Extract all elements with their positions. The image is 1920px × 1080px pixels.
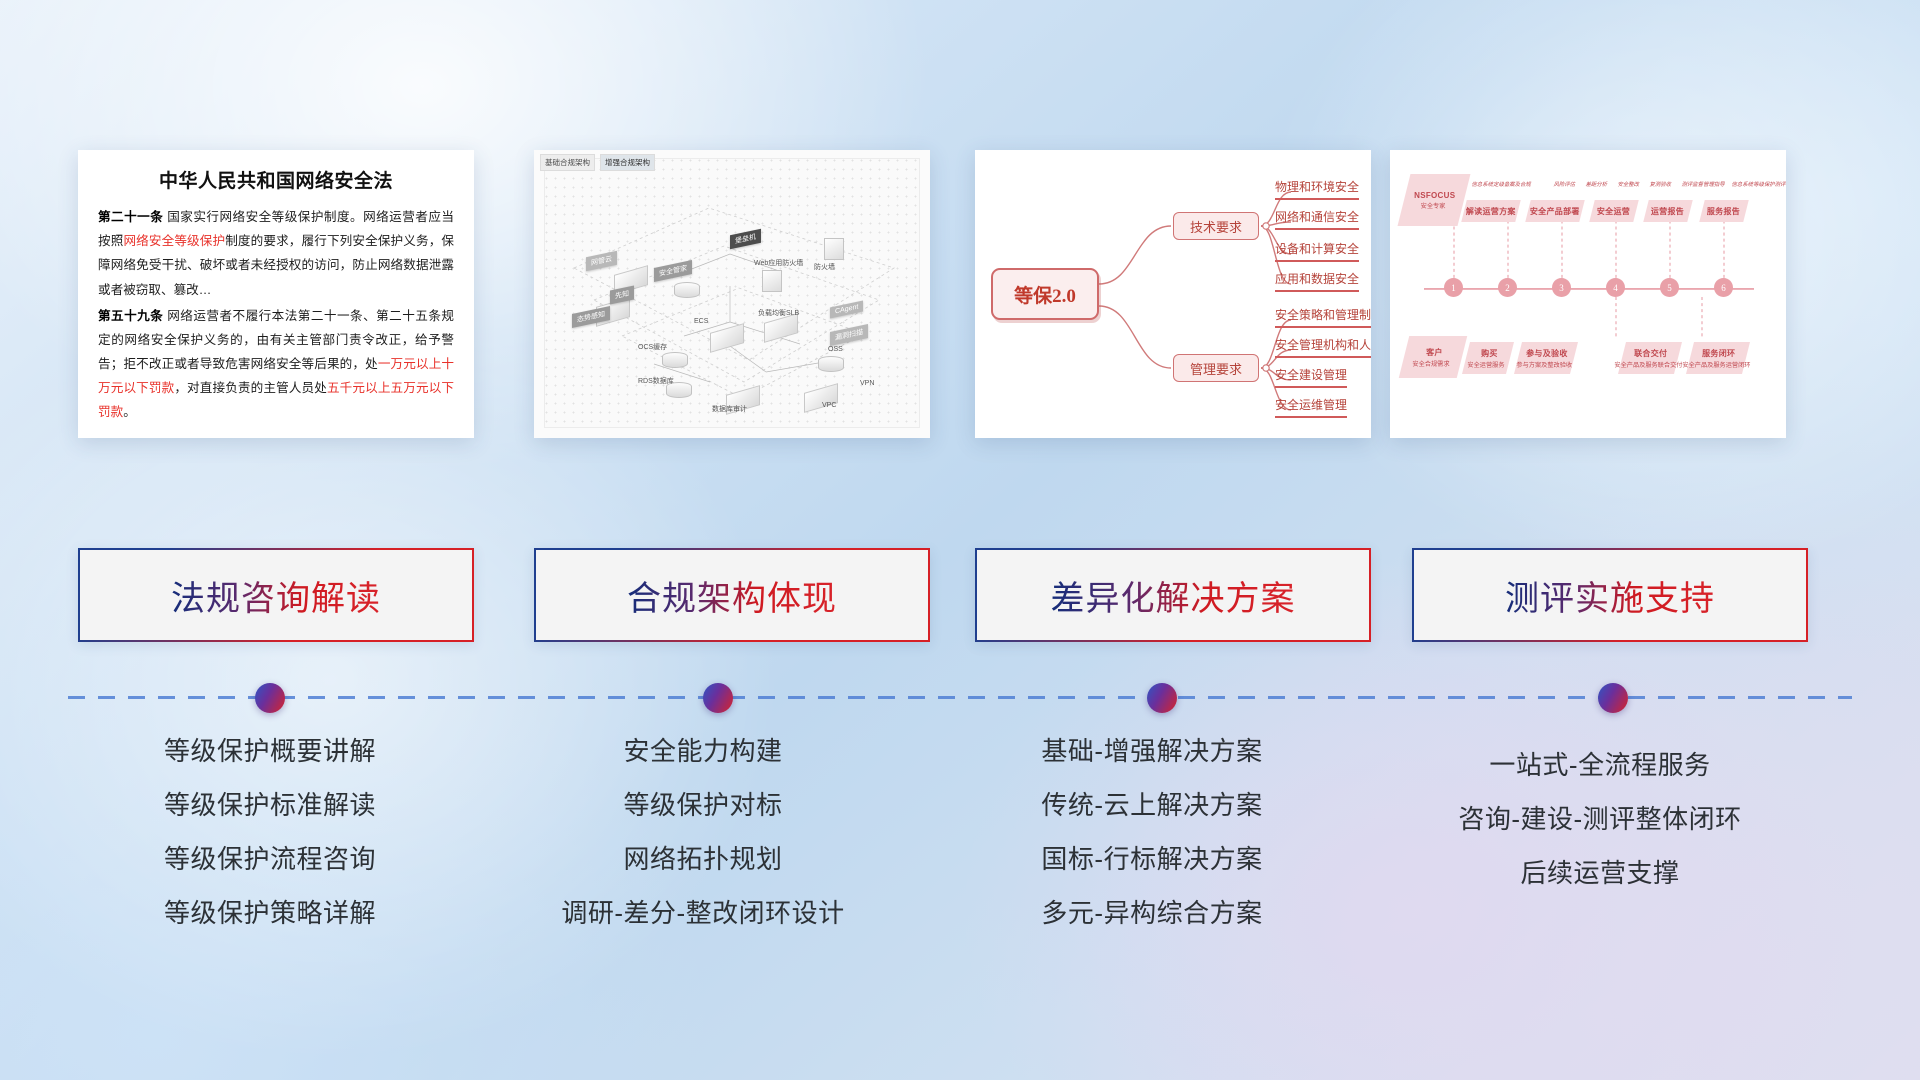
- section-header-solution[interactable]: 差异化解决方案: [975, 548, 1371, 642]
- section-title-1: 法规咨询解读: [171, 571, 381, 620]
- section-item-lists: 等级保护概要讲解 等级保护标准解读 等级保护流程咨询 等级保护策略详解 安全能力…: [0, 738, 1920, 968]
- customer-sub: 安全合规需求: [1413, 359, 1450, 368]
- list-item: 国标-行标解决方案: [937, 846, 1367, 872]
- item-list-architecture: 安全能力构建 等级保护对标 网络拓扑规划 调研-差分-整改闭环设计: [488, 738, 918, 954]
- section-headers-row: 法规咨询解读 合规架构体现 差异化解决方案 测评实施支持: [0, 548, 1920, 642]
- list-item: 等级保护流程咨询: [55, 846, 485, 872]
- article-59-label: 第五十九条: [98, 309, 163, 323]
- list-item: 后续运营支撑: [1385, 860, 1815, 886]
- svc-top-label-1: 信息系统定级备案及合规: [1471, 180, 1532, 188]
- timeline-dot-1[interactable]: [255, 683, 285, 713]
- svc-top-label-2: 风险评估: [1553, 180, 1577, 188]
- mindmap-branch-management: 管理要求: [1173, 354, 1259, 382]
- law-card-title: 中华人民共和国网络安全法: [98, 166, 454, 193]
- list-item: 基础-增强解决方案: [937, 738, 1367, 764]
- section-title-3: 差异化解决方案: [1051, 571, 1296, 620]
- architecture-canvas: 基础合规架构 增强合规架构: [534, 150, 930, 438]
- section-header-regulation[interactable]: 法规咨询解读: [78, 548, 474, 642]
- mindmap-leaf-org-personnel: 安全管理机构和人员: [1275, 336, 1371, 358]
- slide-stage: 中华人民共和国网络安全法 第二十一条 国家实行网络安全等级保护制度。网络运营者应…: [0, 0, 1920, 1080]
- timeline-dot-4[interactable]: [1598, 683, 1628, 713]
- arch-label-db-audit: 数据库审计: [712, 404, 747, 414]
- list-item: 咨询-建设-测评整体闭环: [1385, 806, 1815, 832]
- list-item: 等级保护对标: [488, 792, 918, 818]
- mindmap-leaf-physical-env: 物理和环境安全: [1275, 178, 1359, 200]
- item-list-regulation: 等级保护概要讲解 等级保护标准解读 等级保护流程咨询 等级保护策略详解: [55, 738, 485, 954]
- svc-bottom-3: 联合交付 安全产品及服务联合交付: [1618, 342, 1682, 374]
- service-canvas: NSFOCUS 安全专家 信息系统定级备案及合规 风险评估 差距分析 安全整改 …: [1390, 150, 1786, 438]
- customer-title: 客户: [1426, 347, 1443, 358]
- mindmap-leaf-construction-mgmt: 安全建设管理: [1275, 366, 1347, 388]
- article-59-text-c: 。: [123, 405, 136, 419]
- svc-step-6: 6: [1714, 278, 1733, 297]
- svc-step-3: 3: [1552, 278, 1571, 297]
- mindmap-card[interactable]: 等保2.0 技术要求 管理要求 物理和环境安全 网络和通信安全 设备和计算安全 …: [975, 150, 1371, 438]
- svc-phase-2: 安全产品部署: [1525, 200, 1584, 222]
- architecture-diagram-card[interactable]: 基础合规架构 增强合规架构: [534, 150, 930, 438]
- svc-top-label-6: 测评监督管理指导: [1681, 180, 1726, 188]
- item-list-evaluation: 一站式-全流程服务 咨询-建设-测评整体闭环 后续运营支撑: [1385, 752, 1815, 914]
- svc-phase-3: 安全运营: [1589, 200, 1638, 222]
- law-article-21: 第二十一条 国家实行网络安全等级保护制度。网络运营者应当按照网络安全等级保护制度…: [98, 205, 454, 302]
- law-body: 中华人民共和国网络安全法 第二十一条 国家实行网络安全等级保护制度。网络运营者应…: [78, 150, 474, 433]
- list-item: 传统-云上解决方案: [937, 792, 1367, 818]
- section-title-2: 合规架构体现: [627, 571, 837, 620]
- svc-phase-4: 运营报告: [1643, 200, 1692, 222]
- article-21-highlight: 网络安全等级保护: [123, 234, 225, 248]
- article-21-label: 第二十一条: [98, 210, 163, 224]
- law-text-card[interactable]: 中华人民共和国网络安全法 第二十一条 国家实行网络安全等级保护制度。网络运营者应…: [78, 150, 474, 438]
- mindmap-leaf-device-compute: 设备和计算安全: [1275, 240, 1359, 262]
- mindmap-center-node: 等保2.0: [991, 268, 1099, 320]
- svc-bottom-1: 购买 安全运营服务: [1462, 342, 1514, 374]
- svc-bottom-2: 参与及验收 参与方案及整改验收: [1514, 342, 1578, 374]
- mindmap-leaf-network-comm: 网络和通信安全: [1275, 208, 1359, 230]
- section-title-4: 测评实施支持: [1505, 571, 1715, 620]
- section-header-architecture[interactable]: 合规架构体现: [534, 548, 930, 642]
- svc-top-label-7: 信息系统等级保护测评合规性检查: [1731, 180, 1786, 188]
- service-roadmap-card[interactable]: NSFOCUS 安全专家 信息系统定级备案及合规 风险评估 差距分析 安全整改 …: [1390, 150, 1786, 438]
- arch-label-ocs: OCS缓存: [638, 342, 667, 352]
- list-item: 等级保护标准解读: [55, 792, 485, 818]
- svc-step-5: 5: [1660, 278, 1679, 297]
- arch-shape-ocs: [662, 352, 688, 368]
- list-item: 安全能力构建: [488, 738, 918, 764]
- list-item: 调研-差分-整改闭环设计: [488, 900, 918, 926]
- arch-label-oss: OSS: [828, 346, 843, 353]
- arch-label-vpc-2: VPC: [822, 402, 836, 409]
- mindmap-canvas: 等保2.0 技术要求 管理要求 物理和环境安全 网络和通信安全 设备和计算安全 …: [975, 150, 1371, 438]
- svc-bottom-4: 服务闭环 安全产品及服务运营闭环: [1686, 342, 1750, 374]
- list-item: 一站式-全流程服务: [1385, 752, 1815, 778]
- svc-top-label-4: 安全整改: [1617, 180, 1641, 188]
- svc-phase-1: 解读运营方案: [1461, 200, 1520, 222]
- list-item: 等级保护策略详解: [55, 900, 485, 926]
- mindmap-branch-technical: 技术要求: [1173, 212, 1259, 240]
- arch-label-rds: RDS数据库: [638, 376, 674, 386]
- timeline-dot-3[interactable]: [1147, 683, 1177, 713]
- timeline-dot-2[interactable]: [703, 683, 733, 713]
- svc-step-2: 2: [1498, 278, 1517, 297]
- svc-top-label-5: 复测验收: [1649, 180, 1673, 188]
- arch-shape-fanghuoqiang: [824, 238, 844, 260]
- list-item: 多元-异构综合方案: [937, 900, 1367, 926]
- timeline-dashed-line: [68, 696, 1852, 699]
- thumbnail-card-row: 中华人民共和国网络安全法 第二十一条 国家实行网络安全等级保护制度。网络运营者应…: [0, 150, 1920, 450]
- arch-shape-web-waf: [762, 270, 782, 292]
- arch-label-slb: 负载均衡SLB: [758, 308, 799, 318]
- timeline: [0, 670, 1920, 730]
- svc-top-label-3: 差距分析: [1585, 180, 1609, 188]
- mindmap-leaf-policy-system: 安全策略和管理制度: [1275, 306, 1371, 328]
- mindmap-leaf-ops-mgmt: 安全运维管理: [1275, 396, 1347, 418]
- arch-shape-oss: [818, 356, 844, 372]
- svc-phase-5: 服务报告: [1699, 200, 1748, 222]
- arch-label-fanghuoqiang: 防火墙: [814, 262, 835, 272]
- expert-role: 安全专家: [1420, 201, 1445, 210]
- section-header-evaluation[interactable]: 测评实施支持: [1412, 548, 1808, 642]
- customer-badge: 客户 安全合规需求: [1399, 336, 1467, 378]
- expert-brand: NSFOCUS: [1415, 191, 1456, 200]
- arch-label-web-waf: Web应用防火墙: [754, 258, 803, 268]
- mindmap-leaf-app-data: 应用和数据安全: [1275, 270, 1359, 292]
- arch-label-vpn: VPN: [860, 380, 874, 387]
- svc-step-1: 1: [1444, 278, 1463, 297]
- service-inner: NSFOCUS 安全专家 信息系统定级备案及合规 风险评估 差距分析 安全整改 …: [1402, 160, 1774, 426]
- arch-shape-anquanguanjia: [674, 282, 700, 298]
- law-article-59: 第五十九条 网络运营者不履行本法第二十一条、第二十五条规定的网络安全保护义务的，…: [98, 304, 454, 425]
- list-item: 网络拓扑规划: [488, 846, 918, 872]
- svc-step-4: 4: [1606, 278, 1625, 297]
- arch-label-ecs: ECS: [694, 318, 708, 325]
- item-list-solution: 基础-增强解决方案 传统-云上解决方案 国标-行标解决方案 多元-异构综合方案: [937, 738, 1367, 954]
- article-59-text-b: ，对直接负责的主管人员处: [174, 381, 327, 395]
- list-item: 等级保护概要讲解: [55, 738, 485, 764]
